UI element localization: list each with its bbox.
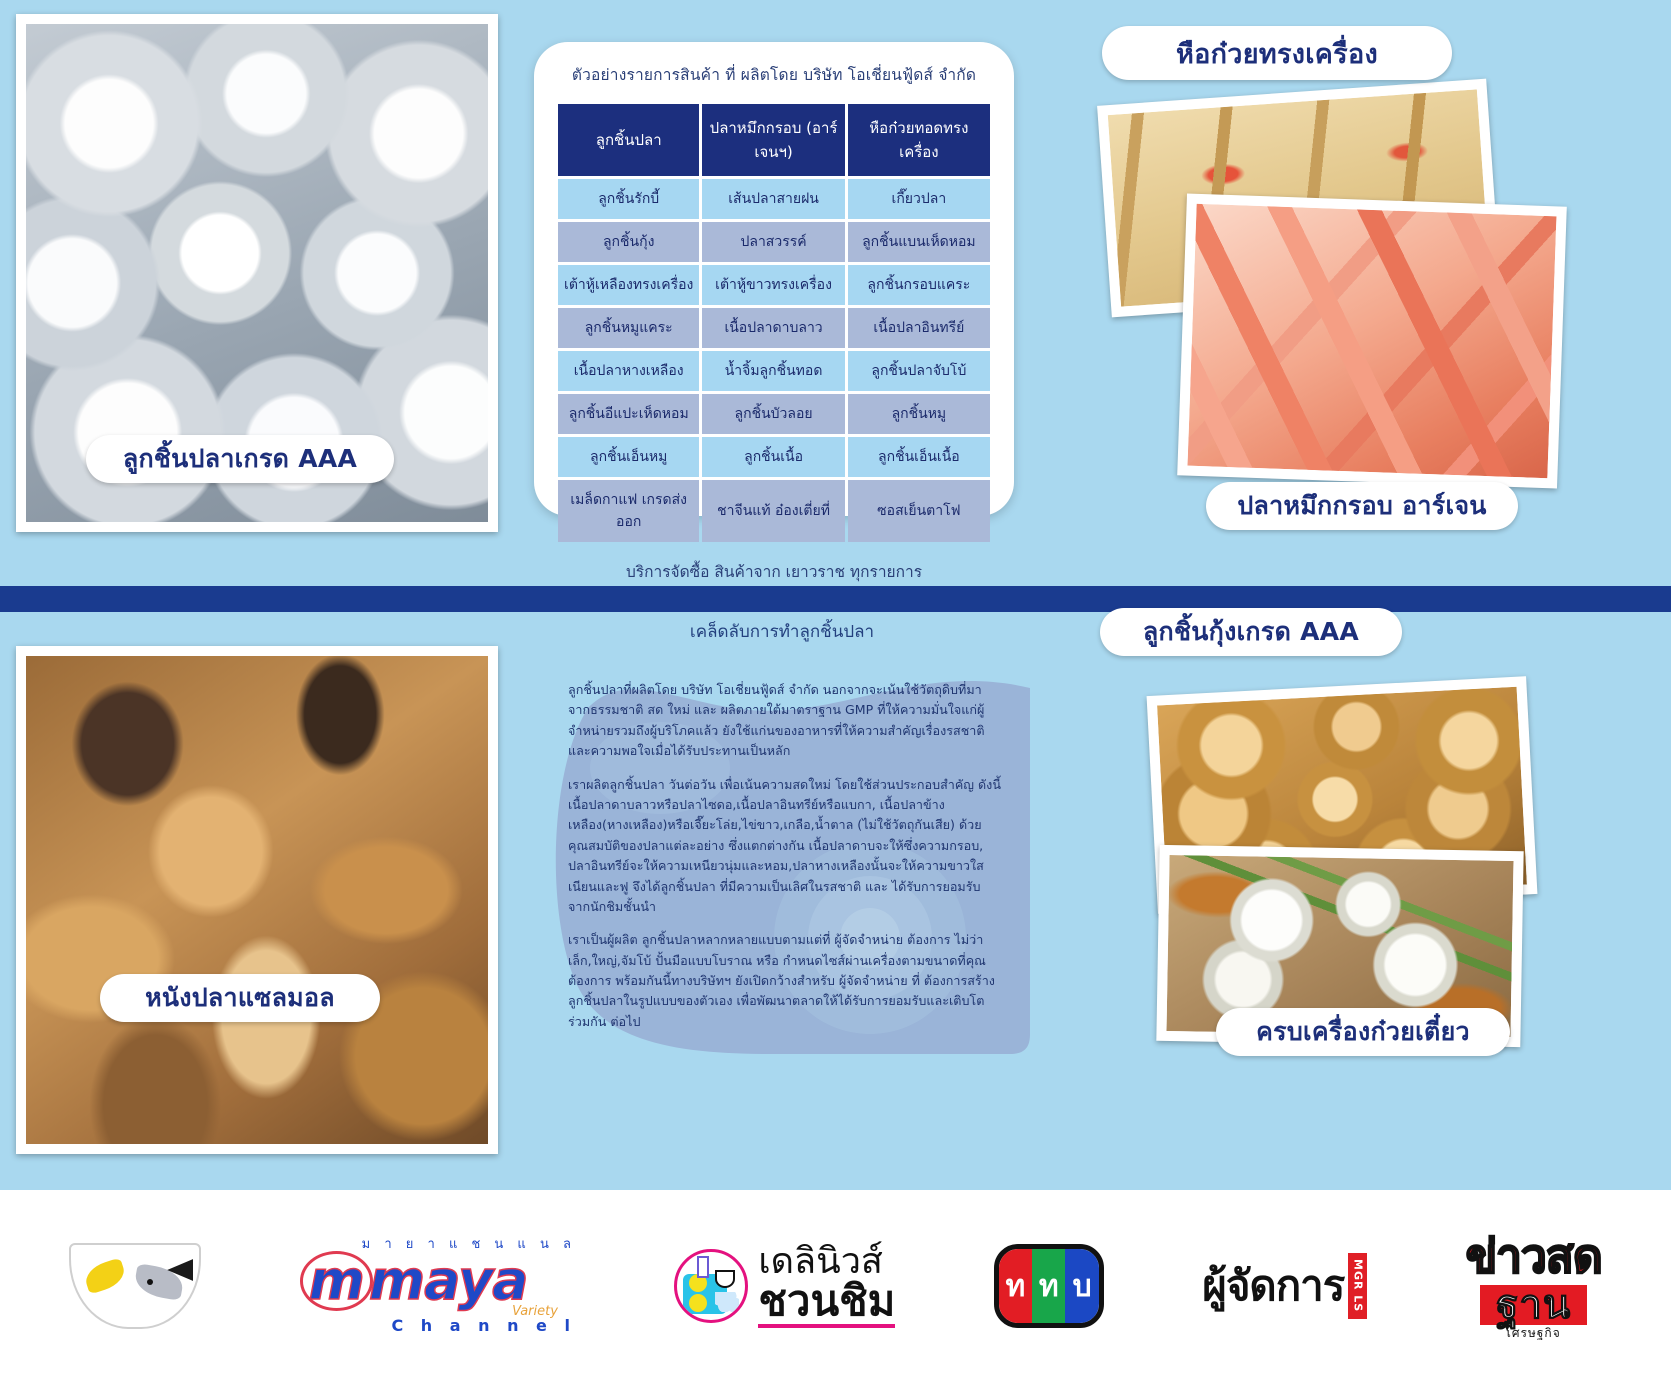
yellow-fish-icon	[82, 1257, 128, 1294]
table-cell: ซอสเย็นตาโฟ	[848, 480, 990, 542]
secret-section-blob: ลูกชิ้นปลาที่ผลิตโดย บริษัท โอเชี่ยนฟู้ด…	[540, 648, 1030, 1056]
table-cell: ลูกชิ้นเนื้อ	[702, 437, 844, 477]
table-cell: เมล็ดกาแฟ เกรดส่งออก	[558, 480, 699, 542]
table-cell: ลูกชิ้นกรอบแคระ	[848, 265, 990, 305]
table-cell: เนื้อปลาดาบลาว	[702, 308, 844, 348]
salmon-skin-image	[26, 656, 488, 1144]
table-cell: ลูกชิ้นปลาจับโบ้	[848, 351, 990, 391]
caption-salmon-skin: หนังปลาแซลมอล	[100, 974, 380, 1022]
product-table-header-2: หือก๋วยทอดทรงเครื่อง	[848, 104, 990, 176]
table-cell: ลูกชิ้นกุ้ง	[558, 222, 699, 262]
caption-salmon-skin-label: หนังปลาแซลมอล	[145, 978, 335, 1018]
table-row: ลูกชิ้นกุ้ง ปลาสวรรค์ ลูกชิ้นแบนเห็ดหอม	[558, 222, 990, 262]
table-cell: น้ำจิ้มลูกชิ้นทอด	[702, 351, 844, 391]
deli-cup-icon	[715, 1270, 735, 1288]
ttb-letter-1: ท	[1032, 1249, 1065, 1323]
deli-glass-icon	[697, 1256, 709, 1278]
manager-label: ผู้จัดการ	[1202, 1253, 1344, 1319]
table-cell: ลูกชิ้นหมู	[848, 394, 990, 434]
logo-maya-channel: ม า ย า แ ช น แ น ล mmaya Variety C h a …	[300, 1238, 576, 1334]
logo-khaosod-thansettakij: ข่าวสด ฐาน เศรษฐกิจ	[1466, 1233, 1602, 1339]
photo-squid	[1177, 193, 1567, 488]
squid-image	[1188, 204, 1557, 478]
product-table-header-0: ลูกชิ้นปลา	[558, 104, 699, 176]
secret-section-heading: เคล็ดลับการทำลูกชิ้นปลา	[552, 618, 1012, 645]
caption-squid-argen: ปลาหมึกกรอบ อาร์เจน	[1206, 482, 1518, 530]
table-row: เต้าหู้เหลืองทรงเครื่อง เต้าหู้ขาวทรงเคร…	[558, 265, 990, 305]
chuanchim-label: ชวนชิม	[758, 1280, 895, 1328]
secret-section-body: ลูกชิ้นปลาที่ผลิตโดย บริษัท โอเชี่ยนฟู้ด…	[568, 680, 1002, 1045]
table-cell: ปลาสวรรค์	[702, 222, 844, 262]
table-row: เมล็ดกาแฟ เกรดส่งออก ชาจีนแท้ อ๋องเตี่ยท…	[558, 480, 990, 542]
table-row: เนื้อปลาหางเหลือง น้ำจิ้มลูกชิ้นทอด ลูกช…	[558, 351, 990, 391]
caption-squid-argen-label: ปลาหมึกกรอบ อาร์เจน	[1237, 486, 1486, 526]
caption-shrimp-grade: ลูกชิ้นกุ้งเกรด AAA	[1100, 608, 1402, 656]
table-cell: ลูกชิ้นหมูแคระ	[558, 308, 699, 348]
delinews-label: เดลินิวส์	[758, 1244, 895, 1280]
ttb-letter-0: ท	[999, 1249, 1032, 1323]
manager-badge: MGR LS	[1348, 1253, 1367, 1318]
maya-channel-label: C h a n n e l	[300, 1318, 576, 1334]
product-table-header-1: ปลาหมึกกรอบ (อาร์เจนฯ)	[702, 104, 844, 176]
secret-paragraph-1: ลูกชิ้นปลาที่ผลิตโดย บริษัท โอเชี่ยนฟู้ด…	[568, 680, 1002, 762]
maya-main-label: maya	[369, 1249, 528, 1312]
table-cell: เต้าหู้ขาวทรงเครื่อง	[702, 265, 844, 305]
caption-fishball-grade: ลูกชิ้นปลาเกรด AAA	[86, 435, 394, 483]
product-table-caption-top: ตัวอย่างรายการสินค้า ที่ ผลิตโดย บริษัท …	[534, 42, 1014, 87]
secret-paragraph-3: เราเป็นผู้ผลิต ลูกชิ้นปลาหลากหลายแบบตามแ…	[568, 930, 1002, 1032]
bowl-fish-icon	[69, 1243, 201, 1329]
caption-noodle-set-label: ครบเครื่องก๋วยเตี๋ยว	[1256, 1012, 1470, 1052]
delinews-emblem-icon	[674, 1249, 748, 1323]
caption-noodle-set: ครบเครื่องก๋วยเตี๋ยว	[1216, 1008, 1510, 1056]
table-row: ลูกชิ้นหมูแคระ เนื้อปลาดาบลาว เนื้อปลาอิ…	[558, 308, 990, 348]
logo-manager: ผู้จัดการ MGR LS	[1202, 1253, 1367, 1319]
table-cell: เกี๊ยวปลา	[848, 179, 990, 219]
table-cell: เนื้อปลาอินทรีย์	[848, 308, 990, 348]
table-cell: เนื้อปลาหางเหลือง	[558, 351, 699, 391]
product-table-caption-bottom: บริการจัดซื้อ สินค้าจาก เยาวราช ทุกรายกา…	[534, 545, 1014, 584]
section-divider	[0, 586, 1671, 612]
deli-grape-icon	[715, 1292, 739, 1312]
table-cell: ลูกชิ้นรักบี้	[558, 179, 699, 219]
partner-logos-bar: ม า ย า แ ช น แ น ล mmaya Variety C h a …	[0, 1190, 1671, 1382]
logo-delinews-chuanchim: เดลินิวส์ ชวนชิม	[674, 1244, 895, 1328]
maya-wordmark: mmaya	[300, 1251, 576, 1311]
table-cell: ลูกชิ้นเอ็นเนื้อ	[848, 437, 990, 477]
table-row: ลูกชิ้นเอ็นหมู ลูกชิ้นเนื้อ ลูกชิ้นเอ็นเ…	[558, 437, 990, 477]
ttb-letter-2: บ	[1065, 1249, 1098, 1323]
table-cell: เส้นปลาสายฝน	[702, 179, 844, 219]
caption-fishball-grade-label: ลูกชิ้นปลาเกรด AAA	[123, 439, 357, 479]
product-table: ลูกชิ้นปลา ปลาหมึกกรอบ (อาร์เจนฯ) หือก๋ว…	[555, 101, 993, 545]
photo-salmon-skin	[16, 646, 498, 1154]
table-cell: ลูกชิ้นบัวลอย	[702, 394, 844, 434]
logo-ttb-channel: ท ท บ	[994, 1244, 1104, 1328]
ttb-emblem-icon: ท ท บ	[994, 1244, 1104, 1328]
settakij-label: เศรษฐกิจ	[1466, 1327, 1602, 1339]
caption-hoi-kuay: หือก๋วยทรงเครื่อง	[1102, 26, 1452, 80]
product-table-header-row: ลูกชิ้นปลา ปลาหมึกกรอบ (อาร์เจนฯ) หือก๋ว…	[558, 104, 990, 176]
table-row: ลูกชิ้นอีแปะเห็ดหอม ลูกชิ้นบัวลอย ลูกชิ้…	[558, 394, 990, 434]
brochure-page: ลูกชิ้นปลาเกรด AAA ตัวอย่างรายการสินค้า …	[0, 0, 1671, 1382]
table-cell: ชาจีนแท้ อ๋องเตี่ยที่	[702, 480, 844, 542]
caption-shrimp-grade-label: ลูกชิ้นกุ้งเกรด AAA	[1143, 612, 1359, 652]
product-table-card: ตัวอย่างรายการสินค้า ที่ ผลิตโดย บริษัท …	[534, 42, 1014, 516]
caption-hoi-kuay-label: หือก๋วยทรงเครื่อง	[1176, 32, 1378, 75]
table-row: ลูกชิ้นรักบี้ เส้นปลาสายฝน เกี๊ยวปลา	[558, 179, 990, 219]
than-label: ฐาน	[1480, 1285, 1587, 1325]
secret-paragraph-2: เราผลิตลูกชิ้นปลา วันต่อวัน เพื่อเน้นควา…	[568, 775, 1002, 918]
table-cell: ลูกชิ้นอีแปะเห็ดหอม	[558, 394, 699, 434]
table-cell: ลูกชิ้นแบนเห็ดหอม	[848, 222, 990, 262]
logo-bowl-fish	[69, 1243, 201, 1329]
maya-initial: m	[300, 1251, 373, 1311]
khaosod-label: ข่าวสด	[1466, 1233, 1602, 1279]
table-cell: เต้าหู้เหลืองทรงเครื่อง	[558, 265, 699, 305]
table-cell: ลูกชิ้นเอ็นหมู	[558, 437, 699, 477]
